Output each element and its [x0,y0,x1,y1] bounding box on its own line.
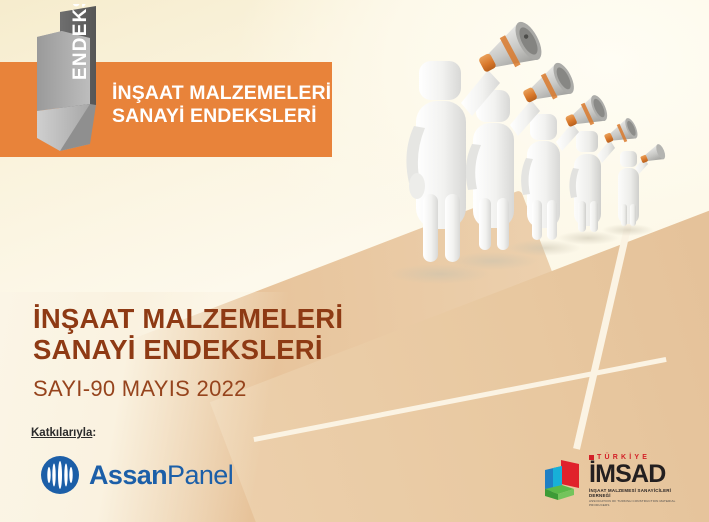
endeks-logo: ENDEKS [28,4,114,156]
issue-number: SAYI-90 MAYIS 2022 [33,376,247,402]
header-banner-text: İNŞAAT MALZEMELERİ SANAYİ ENDEKSLERİ [112,82,342,128]
header-banner-line2: SANAYİ ENDEKSLERİ [112,105,342,128]
contributor-label-colon: : [92,427,96,439]
association-logo-imsad: TÜRKİYE İMSAD İNŞAAT MALZEMESİ SANAYİCİL… [541,452,689,508]
imsad-subtitle-tr: İNŞAAT MALZEMESİ SANAYİCİLERİ DERNEĞİ [589,488,691,498]
imsad-subtitle-en: ASSOCIATION OF TURKISH CONSTRUCTION MATE… [589,499,691,507]
people-with-megaphones-illustration [392,18,709,290]
header-banner-line1: İNŞAAT MALZEMELERİ [112,82,331,104]
endeks-logo-text: ENDEKS [70,4,91,80]
background-swoosh-divider-horizontal [253,357,666,442]
megaphone-figure-5 [602,143,667,236]
sponsor-logo-assanpanel: AssanPanel [40,453,240,497]
report-cover-page: İNŞAAT MALZEMELERİ SANAYİ ENDEKSLERİ [0,0,709,522]
assanpanel-word-light: Panel [167,460,233,490]
page-title-line2: SANAYİ ENDEKSLERİ [33,334,453,365]
page-title-line1: İNŞAAT MALZEMELERİ [33,303,343,334]
imsad-text-block: TÜRKİYE İMSAD İNŞAAT MALZEMESİ SANAYİCİL… [589,454,691,507]
imsad-name: İMSAD [589,462,691,487]
assanpanel-mark-icon [40,455,80,495]
imsad-mark-icon [541,458,585,502]
assanpanel-wordmark: AssanPanel [89,460,233,491]
assanpanel-word-bold: Assan [89,460,167,490]
contributor-label: Katkılarıyla: [31,427,96,439]
contributor-label-word: Katkılarıyla [31,427,92,439]
page-title: İNŞAAT MALZEMELERİ SANAYİ ENDEKSLERİ [33,303,453,365]
